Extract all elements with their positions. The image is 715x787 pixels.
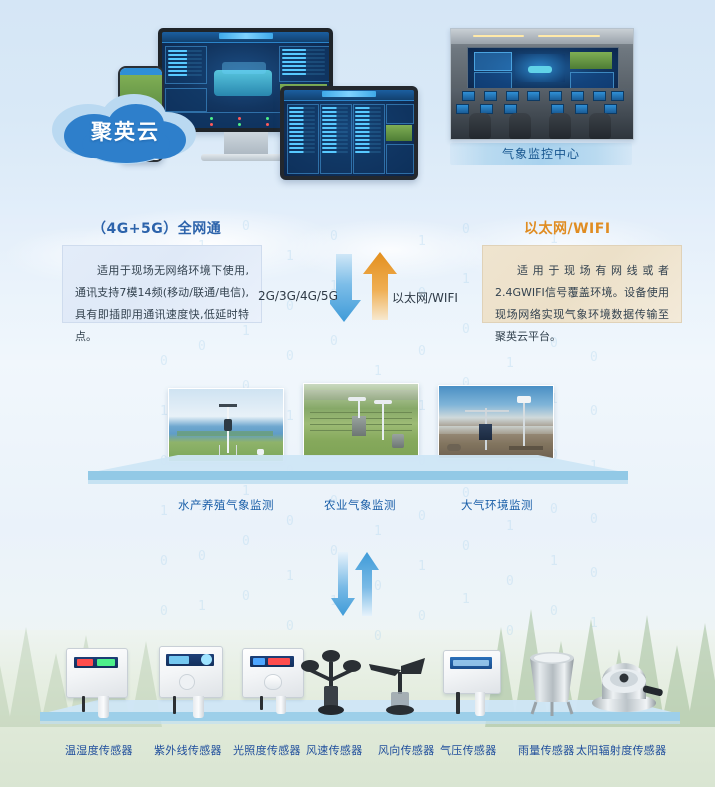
up-arrow-label: 以太网/WIFI xyxy=(392,289,458,306)
connectivity-right-body: 适用于现场有网线或者2.4GWIFI信号覆盖环境。设备使用现场网络实现气象环境数… xyxy=(495,260,669,348)
data-down-arrow-icon xyxy=(331,552,355,616)
sensor-label-5: 气压传感器 xyxy=(440,742,497,758)
application-label-aquaculture: 水产养殖气象监测 xyxy=(178,497,274,513)
control-center-caption: 气象监控中心 xyxy=(450,143,632,165)
sensor-label-0: 温湿度传感器 xyxy=(65,742,133,758)
sensor-wind-direction-icon xyxy=(365,648,435,725)
cloud-logo: 聚英云 xyxy=(48,90,203,168)
cloud-brand-label: 聚英云 xyxy=(48,116,203,146)
connectivity-right-title: 以太网/WIFI xyxy=(524,218,611,238)
sensor-rain-gauge-icon xyxy=(520,650,584,723)
anemometer-icon xyxy=(300,648,362,720)
pyranometer-icon xyxy=(590,655,666,717)
control-center-card: 气象监控中心 xyxy=(450,28,632,165)
data-flow-arrows xyxy=(330,548,390,620)
connectivity-left-body: 适用于现场无网络环境下使用,通讯支持7模14频(移动/联通/电信),具有即插即用… xyxy=(75,260,249,348)
sensor-label-3: 风速传感器 xyxy=(306,742,363,758)
connectivity-right-panel: 适用于现场有网线或者2.4GWIFI信号覆盖环境。设备使用现场网络实现气象环境数… xyxy=(482,245,682,323)
control-room-photo xyxy=(450,28,634,140)
sensor-label-2: 光照度传感器 xyxy=(233,742,301,758)
up-arrow-icon xyxy=(363,252,397,320)
sensor-label-6: 雨量传感器 xyxy=(518,742,575,758)
sensor-label-4: 风向传感器 xyxy=(378,742,435,758)
down-arrow-label: 2G/3G/4G/5G xyxy=(258,289,338,303)
application-label-atmosphere: 大气环境监测 xyxy=(461,497,533,513)
application-label-agriculture: 农业气象监测 xyxy=(324,497,396,513)
sensor-label-1: 紫外线传感器 xyxy=(154,742,222,758)
connectivity-left-panel: 适用于现场无网络环境下使用,通讯支持7模14频(移动/联通/电信),具有即插即用… xyxy=(62,245,262,323)
tablet-dashboard-screen xyxy=(284,90,414,176)
data-up-arrow-icon xyxy=(355,552,379,616)
sensor-solar-radiation-icon xyxy=(590,655,666,722)
application-photo-atmosphere xyxy=(438,385,554,459)
sensor-wind-speed-icon xyxy=(300,648,362,725)
application-platform xyxy=(88,455,628,489)
application-photo-aquaculture xyxy=(168,388,284,462)
infographic-page: 010 010 100 100 101 01 001 001 00 100 10… xyxy=(0,0,715,787)
tablet-device xyxy=(280,86,418,180)
application-photo-agriculture xyxy=(303,383,419,457)
down-arrow-icon xyxy=(330,254,361,322)
connectivity-left-title: （4G+5G）全网通 xyxy=(92,218,221,238)
sensor-label-7: 太阳辐射度传感器 xyxy=(576,742,666,758)
wind-vane-icon xyxy=(365,648,435,720)
rain-gauge-icon xyxy=(520,650,584,718)
connectivity-arrows xyxy=(330,248,400,326)
